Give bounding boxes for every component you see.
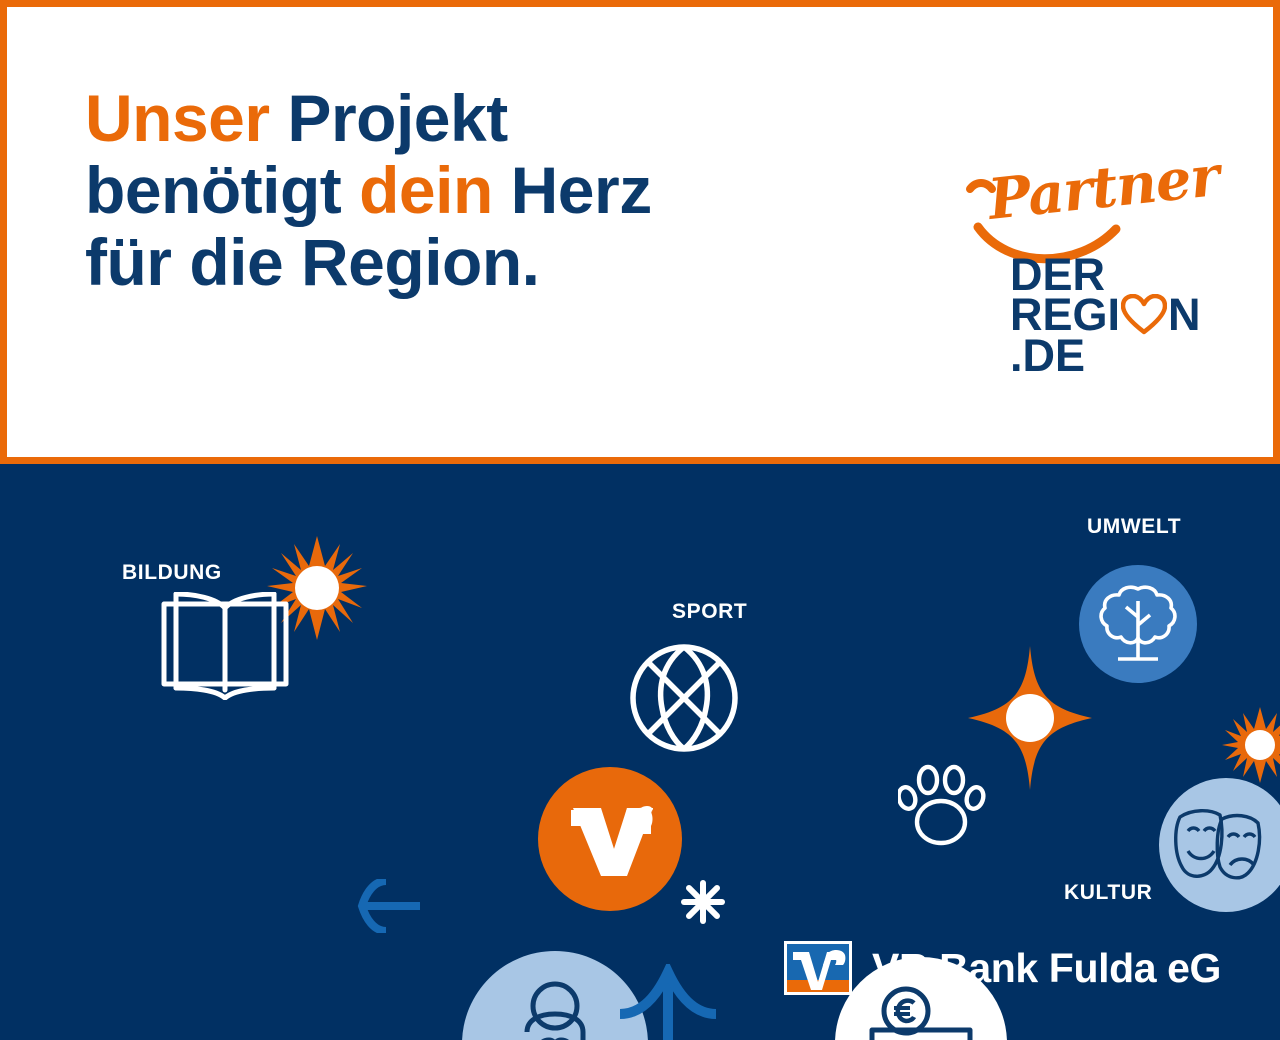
open-book-icon [160,592,290,700]
page-title: Unser Projekt benötigt dein Herz für die… [85,83,652,299]
category-icons-section: BILDUNG [0,464,1280,1040]
promo-poster: Unser Projekt benötigt dein Herz für die… [0,0,1280,1040]
umwelt-circle [1079,565,1197,683]
kultur-circle [1159,778,1280,912]
vr-v-circle [538,767,682,911]
category-label-sport: SPORT [672,600,747,624]
category-label-bildung: BILDUNG [122,561,222,585]
community-heart-icon [487,980,623,1040]
left-arrow-icon [352,879,422,933]
headline-panel: Unser Projekt benötigt dein Herz für die… [0,0,1280,464]
asterisk-sparkle-icon [680,879,726,925]
vr-bank-logo-lockup[interactable]: VR Bank Fulda eG [784,941,1221,995]
headline-line1-word2: Projekt [287,81,507,155]
vr-v-mark-icon [567,800,653,878]
basketball-icon [628,642,740,754]
tree-icon [1098,583,1178,665]
category-label-umwelt: UMWELT [1087,515,1181,539]
category-label-kultur: KULTUR [1064,881,1152,905]
four-point-star-icon [968,646,1092,790]
vr-bank-name: VR Bank Fulda eG [872,945,1221,992]
logo-line-de: .DE [1010,330,1085,382]
headline-line2-word2: dein [359,153,493,227]
heart-icon [1121,294,1167,336]
partner-der-region-logo[interactable]: Partner DER REGI N .DE [962,155,1222,385]
logo-n-text: N [1168,289,1201,341]
small-sunburst-icon [1222,707,1280,783]
headline-line3: für die Region. [85,225,540,299]
headline-line1-word1: Unser [85,81,287,155]
vr-bank-logo-icon [784,941,852,995]
up-arrow-icon [618,964,718,1040]
headline-line2-word3: Herz [493,153,652,227]
headline-line2-word1: benötigt [85,153,359,227]
vr-mark-v-glyph [787,944,849,992]
theater-masks-icon [1170,803,1268,887]
